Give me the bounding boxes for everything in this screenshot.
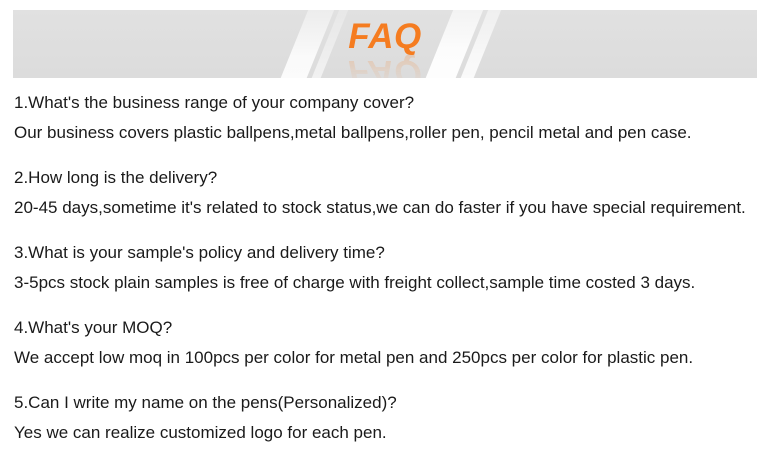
faq-answer: 3-5pcs stock plain samples is free of ch…	[14, 268, 759, 298]
faq-question: 4.What's your MOQ?	[14, 313, 759, 343]
faq-list: 1.What's the business range of your comp…	[14, 88, 759, 448]
page-title: FAQ	[348, 19, 421, 54]
faq-answer: 20-45 days,sometime it's related to stoc…	[14, 193, 759, 223]
faq-item: 3.What is your sample's policy and deliv…	[14, 238, 759, 298]
faq-question: 1.What's the business range of your comp…	[14, 88, 759, 118]
banner-title-group: FAQ FAQ	[13, 10, 757, 78]
faq-item: 2.How long is the delivery? 20-45 days,s…	[14, 163, 759, 223]
faq-question: 3.What is your sample's policy and deliv…	[14, 238, 759, 268]
faq-answer: Yes we can realize customized logo for e…	[14, 418, 759, 448]
faq-page: FAQ FAQ 1.What's the business range of y…	[0, 0, 770, 472]
faq-item: 5.Can I write my name on the pens(Person…	[14, 388, 759, 448]
page-title-reflection: FAQ	[348, 55, 421, 78]
faq-question: 5.Can I write my name on the pens(Person…	[14, 388, 759, 418]
faq-answer: We accept low moq in 100pcs per color fo…	[14, 343, 759, 373]
faq-item: 4.What's your MOQ? We accept low moq in …	[14, 313, 759, 373]
faq-answer: Our business covers plastic ballpens,met…	[14, 118, 759, 148]
faq-item: 1.What's the business range of your comp…	[14, 88, 759, 148]
faq-banner: FAQ FAQ	[13, 10, 757, 78]
faq-question: 2.How long is the delivery?	[14, 163, 759, 193]
